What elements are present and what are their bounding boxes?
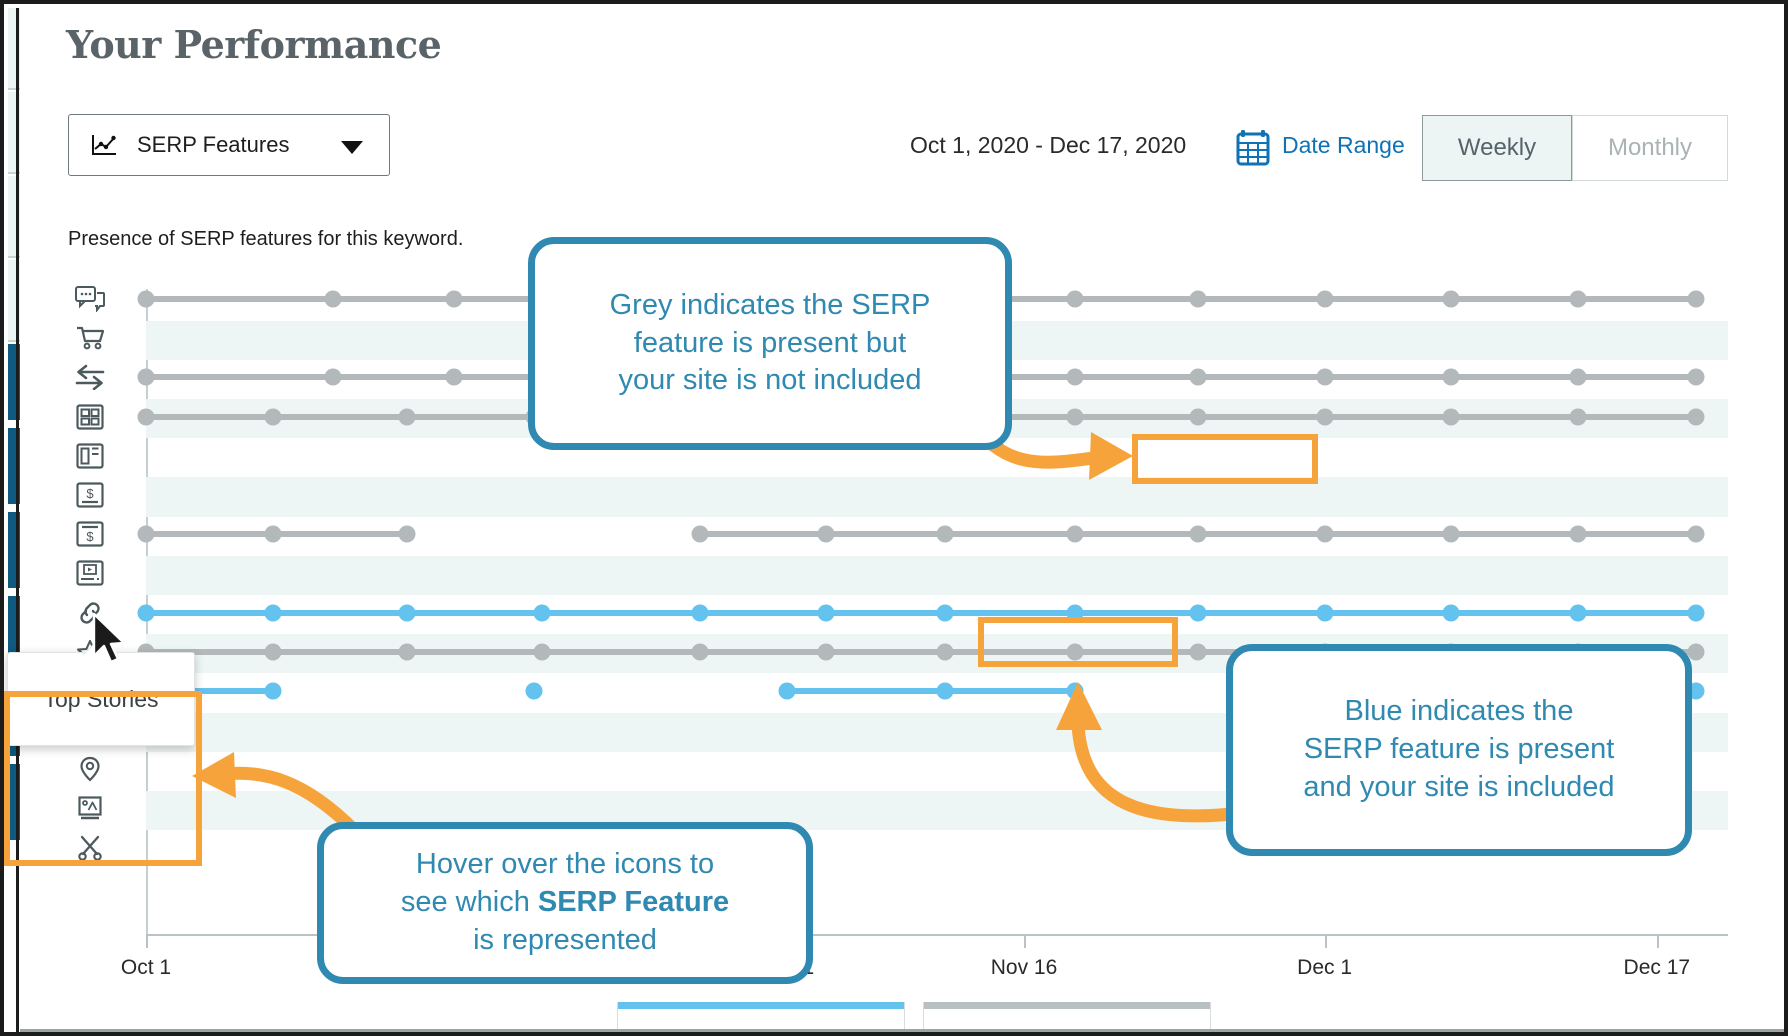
series-segment — [700, 649, 827, 655]
series-data-point[interactable] — [446, 369, 463, 386]
bottom-divider — [20, 1029, 1788, 1032]
callout-grey-line-3: your site is not included — [610, 362, 931, 400]
series-data-point[interactable] — [1316, 369, 1333, 386]
x-axis-tick-label: Dec 1 — [1297, 956, 1352, 980]
series-data-point[interactable] — [138, 369, 155, 386]
series-data-point[interactable] — [778, 683, 795, 700]
series-data-point[interactable] — [818, 604, 835, 621]
arrows-left-right-icon[interactable] — [68, 360, 112, 394]
series-segment — [273, 531, 407, 537]
dollar-box-top-icon[interactable]: $ — [68, 478, 112, 512]
series-segment — [1451, 296, 1578, 302]
series-data-point[interactable] — [264, 408, 281, 425]
series-data-point[interactable] — [264, 604, 281, 621]
calendar-icon[interactable] — [1236, 128, 1270, 166]
bottom-tab-inactive-indicator — [924, 1002, 1210, 1009]
series-data-point[interactable] — [138, 604, 155, 621]
series-segment — [146, 610, 273, 616]
series-data-point[interactable] — [1688, 291, 1705, 308]
callout-blue-line-3: and your site is included — [1303, 769, 1614, 807]
series-data-point[interactable] — [264, 526, 281, 543]
callout-hover-line-1: Hover over the icons to — [401, 846, 729, 884]
series-segment — [826, 649, 945, 655]
series-segment — [1578, 296, 1697, 302]
series-segment — [1075, 531, 1198, 537]
x-axis-tick — [146, 934, 148, 948]
series-data-point[interactable] — [691, 643, 708, 660]
series-segment — [1325, 610, 1452, 616]
series-segment — [1578, 610, 1697, 616]
series-data-point[interactable] — [1316, 408, 1333, 425]
series-data-point[interactable] — [1688, 526, 1705, 543]
series-data-point[interactable] — [1688, 369, 1705, 386]
series-data-point[interactable] — [138, 291, 155, 308]
series-data-point[interactable] — [1443, 369, 1460, 386]
series-data-point[interactable] — [399, 604, 416, 621]
series-segment — [787, 688, 945, 694]
x-axis-tick — [1657, 934, 1659, 948]
series-segment — [1075, 296, 1198, 302]
series-data-point[interactable] — [1066, 369, 1083, 386]
series-segment — [146, 414, 273, 420]
grid-squares-icon[interactable] — [68, 400, 112, 434]
series-data-point[interactable] — [1443, 408, 1460, 425]
series-segment — [273, 414, 407, 420]
series-segment — [1451, 610, 1578, 616]
series-data-point[interactable] — [138, 408, 155, 425]
series-data-point[interactable] — [324, 369, 341, 386]
x-axis-tick — [1024, 934, 1026, 948]
series-data-point[interactable] — [936, 526, 953, 543]
series-segment — [146, 374, 333, 380]
series-segment — [700, 531, 827, 537]
chart-subtitle: Presence of SERP features for this keywo… — [68, 228, 463, 251]
series-data-point[interactable] — [936, 604, 953, 621]
series-segment — [1325, 296, 1452, 302]
series-segment — [1325, 531, 1452, 537]
series-data-point[interactable] — [818, 526, 835, 543]
rail-divider — [16, 8, 19, 1036]
x-axis-tick — [1325, 934, 1327, 948]
series-segment — [407, 610, 541, 616]
video-player-icon[interactable] — [68, 556, 112, 590]
series-data-point[interactable] — [1190, 604, 1207, 621]
series-segment — [273, 649, 407, 655]
series-data-point[interactable] — [1569, 604, 1586, 621]
series-data-point[interactable] — [138, 526, 155, 543]
screenshot-frame: Your Performance SERP Features Oct 1, 20… — [0, 0, 1788, 1036]
series-data-point[interactable] — [1316, 526, 1333, 543]
series-data-point[interactable] — [1569, 408, 1586, 425]
series-segment — [826, 610, 945, 616]
granularity-monthly-button[interactable]: Monthly — [1572, 115, 1728, 181]
series-data-point[interactable] — [264, 683, 281, 700]
series-data-point[interactable] — [533, 604, 550, 621]
series-data-point[interactable] — [818, 643, 835, 660]
callout-grey-explanation: Grey indicates the SERP feature is prese… — [528, 237, 1012, 450]
series-data-point[interactable] — [264, 643, 281, 660]
series-data-point[interactable] — [1688, 408, 1705, 425]
series-segment — [1075, 610, 1198, 616]
bottom-tab-active[interactable] — [617, 1002, 905, 1032]
series-segment — [1198, 414, 1325, 420]
series-segment — [1325, 374, 1452, 380]
series-data-point[interactable] — [446, 291, 463, 308]
series-segment — [1578, 414, 1697, 420]
callout-grey-line-1: Grey indicates the SERP — [610, 287, 931, 325]
page-title: Your Performance — [66, 22, 441, 67]
mouse-cursor-icon — [90, 612, 132, 670]
series-segment — [945, 531, 1075, 537]
chevron-down-icon — [341, 141, 363, 154]
granularity-weekly-button[interactable]: Weekly — [1422, 115, 1572, 181]
series-data-point[interactable] — [525, 683, 542, 700]
series-data-point[interactable] — [1688, 643, 1705, 660]
series-segment — [146, 531, 273, 537]
highlight-box-icon — [4, 691, 202, 866]
series-data-point[interactable] — [1190, 408, 1207, 425]
series-segment — [273, 610, 407, 616]
series-segment — [1198, 531, 1325, 537]
callout-hover-line2-bold: SERP Feature — [538, 886, 729, 918]
series-data-point[interactable] — [1569, 291, 1586, 308]
series-segment — [407, 414, 534, 420]
series-data-point[interactable] — [1316, 604, 1333, 621]
series-data-point[interactable] — [1569, 526, 1586, 543]
series-segment — [1325, 414, 1452, 420]
series-data-point[interactable] — [936, 643, 953, 660]
callout-grey-line-2: feature is present but — [610, 325, 931, 363]
series-segment — [1578, 531, 1697, 537]
series-data-point[interactable] — [1066, 526, 1083, 543]
x-axis-tick-label: Oct 1 — [121, 956, 171, 980]
series-segment — [333, 374, 455, 380]
series-data-point[interactable] — [1443, 526, 1460, 543]
callout-hover-hint: Hover over the icons to see which SERP F… — [317, 822, 813, 984]
dollar-box-bottom-icon[interactable]: $ — [68, 517, 112, 551]
shopping-cart-icon[interactable] — [68, 321, 112, 355]
series-segment — [1198, 374, 1325, 380]
chart-band — [146, 556, 1728, 595]
series-segment — [407, 649, 541, 655]
series-data-point[interactable] — [399, 643, 416, 660]
series-segment — [333, 296, 455, 302]
metric-select-label: SERP Features — [137, 132, 289, 158]
callout-blue-line-2: SERP feature is present — [1303, 731, 1614, 769]
series-segment — [826, 531, 945, 537]
series-data-point[interactable] — [691, 526, 708, 543]
series-segment — [1451, 374, 1578, 380]
svg-text:$: $ — [86, 486, 94, 501]
series-data-point[interactable] — [1190, 291, 1207, 308]
series-data-point[interactable] — [1569, 369, 1586, 386]
series-segment — [1451, 531, 1578, 537]
series-data-point[interactable] — [1688, 604, 1705, 621]
callout-hover-line-3: is represented — [401, 922, 729, 960]
callout-blue-explanation: Blue indicates the SERP feature is prese… — [1226, 644, 1692, 856]
series-segment — [542, 649, 700, 655]
series-data-point[interactable] — [324, 291, 341, 308]
x-axis-tick-label: Nov 16 — [991, 956, 1058, 980]
series-data-point[interactable] — [1190, 369, 1207, 386]
callout-hover-line-2: see which SERP Feature — [401, 884, 729, 922]
date-range-link[interactable]: Date Range — [1282, 132, 1405, 159]
series-segment — [1075, 374, 1198, 380]
chat-bubbles-icon[interactable] — [68, 282, 112, 316]
series-segment — [1198, 610, 1325, 616]
bottom-tab-active-indicator — [618, 1002, 904, 1009]
series-data-point[interactable] — [1190, 526, 1207, 543]
series-segment — [945, 610, 1075, 616]
series-data-point[interactable] — [1316, 291, 1333, 308]
series-data-point[interactable] — [399, 526, 416, 543]
x-axis-tick-label: Dec 17 — [1624, 956, 1691, 980]
callout-hover-line2-pre: see which — [401, 886, 538, 918]
panel-layout-icon[interactable] — [68, 439, 112, 473]
series-segment — [146, 296, 333, 302]
chart-band — [146, 477, 1728, 516]
date-range-value: Oct 1, 2020 - Dec 17, 2020 — [910, 132, 1186, 159]
series-data-point[interactable] — [533, 643, 550, 660]
series-data-point[interactable] — [1066, 291, 1083, 308]
metric-select[interactable]: SERP Features — [68, 114, 390, 176]
series-segment — [1451, 414, 1578, 420]
series-segment — [542, 610, 700, 616]
series-data-point[interactable] — [399, 408, 416, 425]
series-segment — [700, 610, 827, 616]
callout-blue-line-1: Blue indicates the — [1303, 693, 1614, 731]
series-data-point[interactable] — [1443, 291, 1460, 308]
svg-text:$: $ — [86, 529, 94, 544]
series-data-point[interactable] — [691, 604, 708, 621]
line-chart-icon — [91, 133, 117, 157]
series-segment — [1578, 374, 1697, 380]
series-data-point[interactable] — [936, 683, 953, 700]
series-data-point[interactable] — [1443, 604, 1460, 621]
series-segment — [1198, 296, 1325, 302]
bottom-tab-inactive[interactable] — [923, 1002, 1211, 1032]
